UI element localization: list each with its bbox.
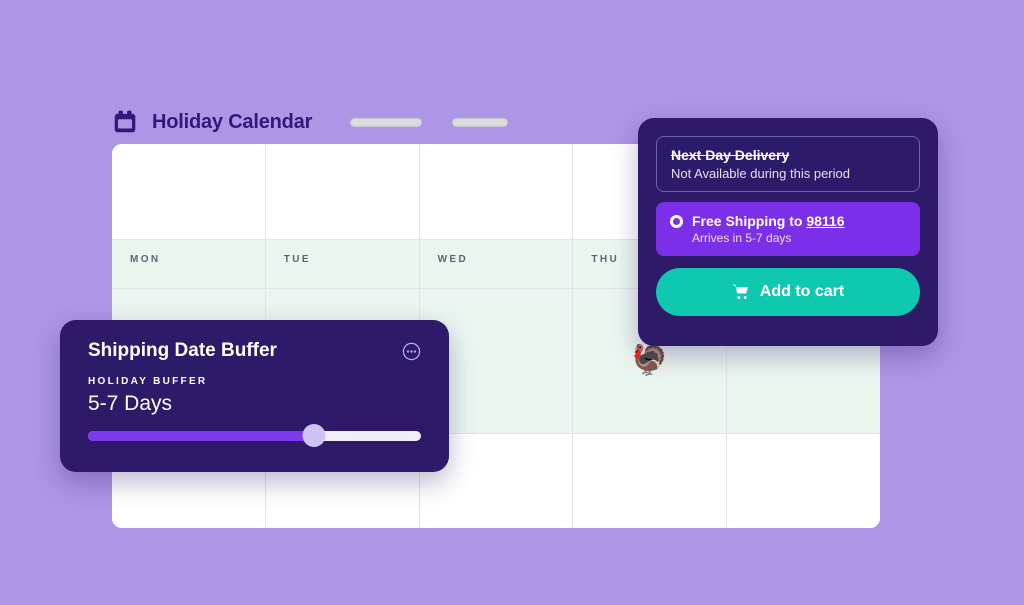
buffer-card-header: Shipping Date Buffer <box>88 340 421 362</box>
day-label-tue: TUE <box>284 254 311 265</box>
free-shipping-eta: Arrives in 5-7 days <box>692 231 906 245</box>
placeholder-bar-2 <box>452 118 508 127</box>
free-shipping-title: Free Shipping to 98116 <box>692 213 845 229</box>
calendar-cell-mon[interactable]: MON <box>112 240 266 289</box>
day-label-mon: MON <box>130 254 161 265</box>
app-stage: Holiday Calendar MON TUE WED THU <box>0 0 1024 605</box>
next-day-delivery-status: Not Available during this period <box>671 166 905 181</box>
calendar-cell[interactable] <box>420 144 574 240</box>
header-placeholders <box>350 118 508 127</box>
add-to-cart-label: Add to cart <box>760 283 844 301</box>
slider-thumb[interactable] <box>303 424 326 447</box>
page-header: Holiday Calendar <box>112 104 508 140</box>
holiday-buffer-slider[interactable] <box>88 430 421 442</box>
calendar-icon <box>112 109 138 135</box>
calendar-cell[interactable] <box>266 144 420 240</box>
turkey-icon: 🦃 <box>631 346 668 376</box>
shipping-options-card: Next Day Delivery Not Available during t… <box>638 118 938 346</box>
calendar-cell-wed[interactable]: WED <box>420 240 574 289</box>
more-options-icon[interactable] <box>402 342 421 361</box>
free-shipping-label: Free Shipping to <box>692 213 806 229</box>
calendar-cell[interactable] <box>112 144 266 240</box>
holiday-buffer-label: HOLIDAY BUFFER <box>88 376 421 387</box>
next-day-delivery-title: Next Day Delivery <box>671 147 905 163</box>
buffer-card-title: Shipping Date Buffer <box>88 340 277 362</box>
day-label-wed: WED <box>438 254 469 265</box>
calendar-cell-tue[interactable]: TUE <box>266 240 420 289</box>
free-shipping-row: Free Shipping to 98116 <box>670 213 906 229</box>
slider-fill <box>88 431 314 441</box>
shipping-date-buffer-card: Shipping Date Buffer HOLIDAY BUFFER 5-7 … <box>60 320 449 472</box>
holiday-buffer-value: 5-7 Days <box>88 392 421 416</box>
zip-code-link[interactable]: 98116 <box>806 213 844 229</box>
shipping-option-next-day: Next Day Delivery Not Available during t… <box>656 136 920 192</box>
placeholder-bar-1 <box>350 118 422 127</box>
calendar-cell[interactable] <box>573 434 727 528</box>
radio-selected-icon[interactable] <box>670 215 683 228</box>
add-to-cart-button[interactable]: Add to cart <box>656 268 920 316</box>
shipping-option-free-shipping[interactable]: Free Shipping to 98116 Arrives in 5-7 da… <box>656 202 920 256</box>
day-label-thu: THU <box>591 254 619 265</box>
shopping-cart-icon <box>732 283 750 301</box>
page-title: Holiday Calendar <box>152 111 312 134</box>
calendar-cell[interactable] <box>727 434 880 528</box>
